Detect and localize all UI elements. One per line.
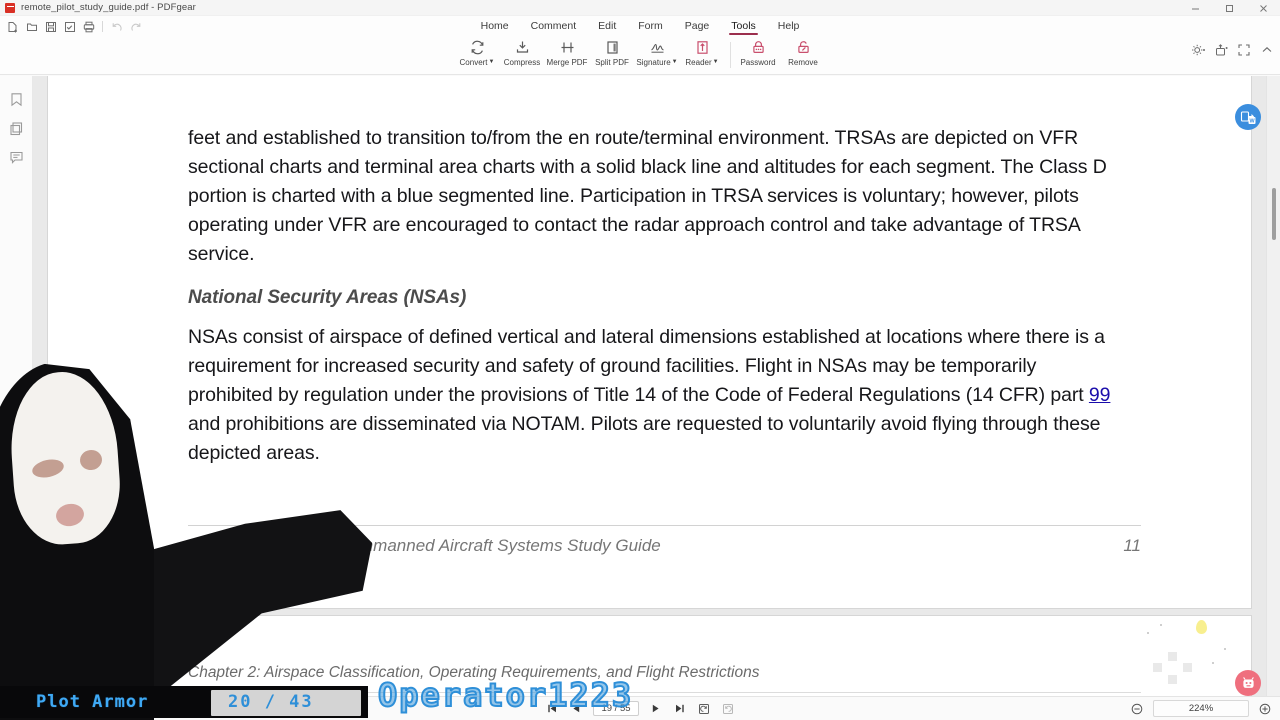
- overlay-counter-value: 20 / 43: [228, 692, 314, 712]
- next-page-icon[interactable]: [649, 702, 663, 716]
- menu-item-help[interactable]: Help: [767, 20, 811, 35]
- pdfgear-window: remote_pilot_study_guide.pdf - PDFgear H…: [0, 0, 1280, 720]
- sparkle-effect: [1168, 652, 1177, 661]
- menu-item-home[interactable]: Home: [470, 20, 520, 35]
- window-title: remote_pilot_study_guide.pdf - PDFgear: [21, 2, 196, 13]
- ribbon-split-pdf-button[interactable]: Split PDF: [590, 36, 635, 74]
- vertical-scrollbar[interactable]: [1266, 76, 1280, 696]
- share-upload-icon[interactable]: [1214, 43, 1228, 57]
- menu-item-tools[interactable]: Tools: [720, 20, 767, 35]
- page1-footer-number: 11: [1123, 536, 1141, 556]
- zoom-in-icon[interactable]: [1258, 702, 1272, 716]
- document-viewport[interactable]: feet and established to transition to/fr…: [33, 76, 1266, 696]
- sparkle-dot: [1147, 632, 1149, 634]
- ribbon-compress-button[interactable]: Compress: [500, 36, 545, 74]
- page1-paragraph-2-part-a: NSAs consist of airspace of defined vert…: [188, 326, 1105, 406]
- brightness-icon[interactable]: [1191, 43, 1205, 57]
- robot-ai-icon[interactable]: [1235, 670, 1261, 696]
- folder-open-icon[interactable]: [23, 18, 40, 35]
- ribbon-label-convert: Convert: [460, 58, 488, 67]
- window-controls: [1178, 0, 1280, 16]
- chevron-down-icon: ▼: [489, 59, 495, 65]
- sparkle-dot: [1160, 624, 1162, 626]
- rotate-counterclockwise-icon[interactable]: [697, 702, 711, 716]
- scrollbar-thumb[interactable]: [1272, 188, 1276, 240]
- maximize-icon[interactable]: [1212, 0, 1246, 16]
- rotate-clockwise-icon[interactable]: [721, 702, 735, 716]
- ribbon-label-password: Password: [740, 58, 775, 67]
- minimize-icon[interactable]: [1178, 0, 1212, 16]
- ribbon-label-signature: Signature: [636, 58, 670, 67]
- menu-item-page[interactable]: Page: [674, 20, 721, 35]
- page1-footer-title: Remote Pilot – Small Unmanned Aircraft S…: [188, 536, 661, 556]
- fullscreen-icon[interactable]: [1237, 43, 1251, 57]
- zoom-level-value[interactable]: 224%: [1153, 700, 1249, 717]
- bookmark-icon[interactable]: [7, 90, 25, 108]
- redo-arrow-icon[interactable]: [127, 18, 144, 35]
- operator-watermark: Operator1223: [378, 676, 633, 714]
- plot-armor-label: Plot Armor: [36, 692, 148, 712]
- ribbon-reader-button[interactable]: Reader▼: [680, 36, 725, 74]
- page1-paragraph-1: feet and established to transition to/fr…: [188, 124, 1111, 269]
- page1-paragraph-2-part-b: and prohibitions are disseminated via NO…: [188, 413, 1100, 464]
- sparkle-effect: [1183, 663, 1192, 672]
- ribbon-password-button[interactable]: Password: [736, 36, 781, 74]
- undo-arrow-icon[interactable]: [108, 18, 125, 35]
- quick-access-toolbar: [4, 18, 144, 35]
- page1-paragraph-2: NSAs consist of airspace of defined vert…: [188, 323, 1111, 468]
- ribbon-merge-pdf-button[interactable]: Merge PDF: [545, 36, 590, 74]
- merge-pdf-icon: [559, 38, 576, 57]
- sparkle-effect: [1153, 663, 1162, 672]
- pdf-page-19: feet and established to transition to/fr…: [48, 76, 1251, 608]
- ribbon-remove-button[interactable]: Remove: [781, 36, 826, 74]
- pdf-page-20: Chapter 2: Airspace Classification, Oper…: [48, 616, 1251, 696]
- signature-pen-icon: [649, 38, 666, 57]
- pages-stack-icon[interactable]: [7, 119, 25, 137]
- ribbon-convert-button[interactable]: Convert▼: [455, 36, 500, 74]
- title-bar: remote_pilot_study_guide.pdf - PDFgear: [0, 0, 1280, 16]
- menu-item-edit[interactable]: Edit: [587, 20, 627, 35]
- cfr-part-99-link[interactable]: 99: [1089, 384, 1111, 406]
- ribbon-signature-button[interactable]: Signature▼: [635, 36, 680, 74]
- menu-item-form[interactable]: Form: [627, 20, 674, 35]
- sparkle-dot: [1212, 662, 1214, 664]
- chevron-down-icon: ▼: [672, 59, 678, 65]
- left-tool-rail: [0, 76, 33, 696]
- ribbon-label-reader: Reader: [685, 58, 711, 67]
- convert-refresh-icon: [469, 38, 486, 57]
- sparkle-effect: [1168, 675, 1177, 684]
- zoom-out-icon[interactable]: [1130, 702, 1144, 716]
- ribbon-label-compress: Compress: [504, 58, 540, 67]
- toolbar-divider: [102, 21, 103, 32]
- sparkle-dot: [1224, 648, 1226, 650]
- page2-header-chapter: Chapter 2: Airspace Classification, Oper…: [188, 664, 1141, 682]
- printer-icon[interactable]: [80, 18, 97, 35]
- zoom-controls: 224%: [1130, 700, 1272, 717]
- pdfgear-logo-icon: [5, 3, 15, 13]
- lock-closed-icon: [750, 38, 767, 57]
- main-menu-bar: Home Comment Edit Form Page Tools Help: [0, 16, 1280, 35]
- sparkle-effect: [1196, 620, 1207, 634]
- save-disk-icon[interactable]: [42, 18, 59, 35]
- last-page-icon[interactable]: [673, 702, 687, 716]
- comment-bubble-icon[interactable]: [7, 148, 25, 166]
- lock-open-icon: [795, 38, 812, 57]
- compress-download-icon: [514, 38, 531, 57]
- reader-screen-icon: [694, 38, 711, 57]
- top-right-toolbar: [1191, 43, 1274, 57]
- ribbon-label-remove: Remove: [788, 58, 818, 67]
- page1-footer: Remote Pilot – Small Unmanned Aircraft S…: [188, 525, 1141, 556]
- new-file-icon[interactable]: [4, 18, 21, 35]
- ribbon-label-merge-pdf: Merge PDF: [547, 58, 588, 67]
- ribbon-label-split-pdf: Split PDF: [595, 58, 629, 67]
- page1-heading-nsas: National Security Areas (NSAs): [188, 284, 1111, 311]
- tools-ribbon: Convert▼ Compress Merge PDF Split PDF Si: [0, 35, 1280, 75]
- menu-item-comment[interactable]: Comment: [520, 20, 588, 35]
- ribbon-divider: [730, 42, 731, 68]
- pdf-to-word-icon[interactable]: W: [1235, 104, 1261, 130]
- save-as-icon[interactable]: [61, 18, 78, 35]
- split-pdf-icon: [604, 38, 621, 57]
- chevron-up-icon[interactable]: [1260, 43, 1274, 57]
- chevron-down-icon: ▼: [713, 59, 719, 65]
- close-icon[interactable]: [1246, 0, 1280, 16]
